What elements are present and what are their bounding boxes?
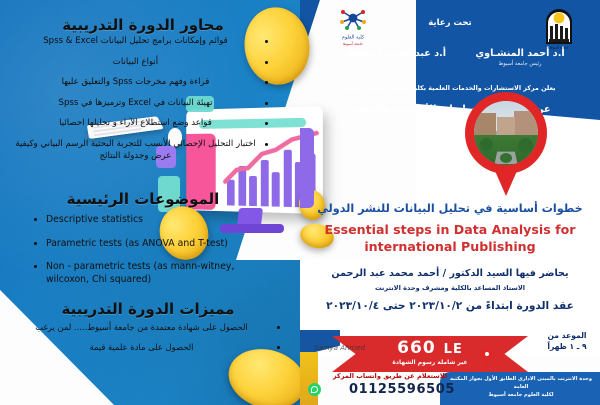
map-pin-photo [465,92,547,200]
inquiry-label: للاستعلام عن طريق واتساب المركز [300,372,480,380]
heading-main-topics: الموضوعات الرئيسية [18,190,268,208]
photo-tree [480,138,493,151]
announcement-line-2: عن عقد دورة للدراسات الأكاديمية والمهنية [304,104,596,115]
patron-role: عميد كلية العلوم [315,61,470,67]
price-amount: 660 [397,338,436,358]
heading-course-benefits: مميزات الدورة التدريبية [18,300,278,318]
whatsapp-icon[interactable] [308,383,321,396]
list-item: اختبار التحليل الإحصائي الأنسب للتجربة ا… [12,139,270,162]
right-info-panel: كلية العلوم جامعة أسيوط جامعة أسيوط تحت … [300,0,600,405]
course-flyer: محاور الدورة التدريبية قوائم وإمكانات بر… [0,0,600,405]
list-item: الحصول على مادة علمية قيمة [12,342,282,353]
list-item: قواعد وضع استطلاع الآراء و تحليلها احصائ… [12,118,270,130]
lecturer-name: يحاضر فيها السيد الدكتور / أحمد محمد عبد… [304,268,596,279]
campus-photo [474,101,538,165]
announcement-line-1: يعلن مركز الاستشارات والخدمات العلمية بك… [304,84,596,92]
course-axes-list: قوائم وإمكانات برامج تحليل البيانات Spss… [12,36,270,171]
list-item: أنواع البيانات [12,57,270,69]
course-dates: عقد الدورة ابتداءً من ٢٠٢٣/١٠/٢ حتى ٢٠٢٣… [304,300,596,312]
course-time-label: الموعد من [538,330,596,341]
list-item: قراءة وفهم مخرجات Spss والتعليق عليها [12,77,270,89]
list-item: تهيئة البيانات في Excel وترميزها في Spss [12,98,270,110]
location-pin-icon [480,348,493,367]
photo-tree [518,138,533,153]
heading-course-axes: محاور الدورة التدريبية [18,16,268,34]
list-item: Parametric tests (as ANOVA and T-test) [34,238,274,251]
photo-building-center [497,117,515,135]
course-time: الموعد من ٩ ـ ١ ظهراً [538,330,596,353]
list-item: Non - parametric tests (as mann-witney, … [34,261,274,286]
pin-dot [485,352,489,356]
contact-phone-number[interactable]: 01125596505 [322,382,482,397]
main-topics-list: Descriptive statistics Parametric tests … [34,214,274,297]
price-currency: LE [444,342,463,357]
course-time-value: ٩ ـ ١ ظهراً [538,341,596,352]
course-title-arabic: خطوات أساسية في تحليل البيانات للنشر الد… [304,202,596,215]
course-title-english-line2: international Publishing [310,239,590,256]
course-title-english-line1: Essential steps in Data Analysis for [310,222,590,239]
course-title-english: Essential steps in Data Analysis for int… [310,222,590,255]
list-item: الحصول على شهادة معتمدة من جامعة أسيوط..… [12,322,282,333]
signature: Samya Ahmed [314,344,384,362]
patron-dean: أ.د عبدالحميد أبوسحلي عميد كلية العلوم [315,48,470,67]
lecturer-role: الاستاذ المساعد بالكلية ومشرف وحدة الانت… [304,284,596,292]
svg-text:كلية العلوم: كلية العلوم [342,35,365,41]
photo-tree [500,153,512,163]
under-patronage-label: تحت رعاية [300,18,600,28]
patron-name: أ.د عبدالحميد أبوسحلي [315,48,470,59]
course-benefits-list: الحصول على شهادة معتمدة من جامعة أسيوط..… [12,322,282,363]
list-item: قوائم وإمكانات برامج تحليل البيانات Spss… [12,36,270,48]
list-item: Descriptive statistics [34,214,274,227]
svg-text:جامعة أسيوط: جامعة أسيوط [343,41,363,46]
decor-purple-edge [300,128,314,208]
